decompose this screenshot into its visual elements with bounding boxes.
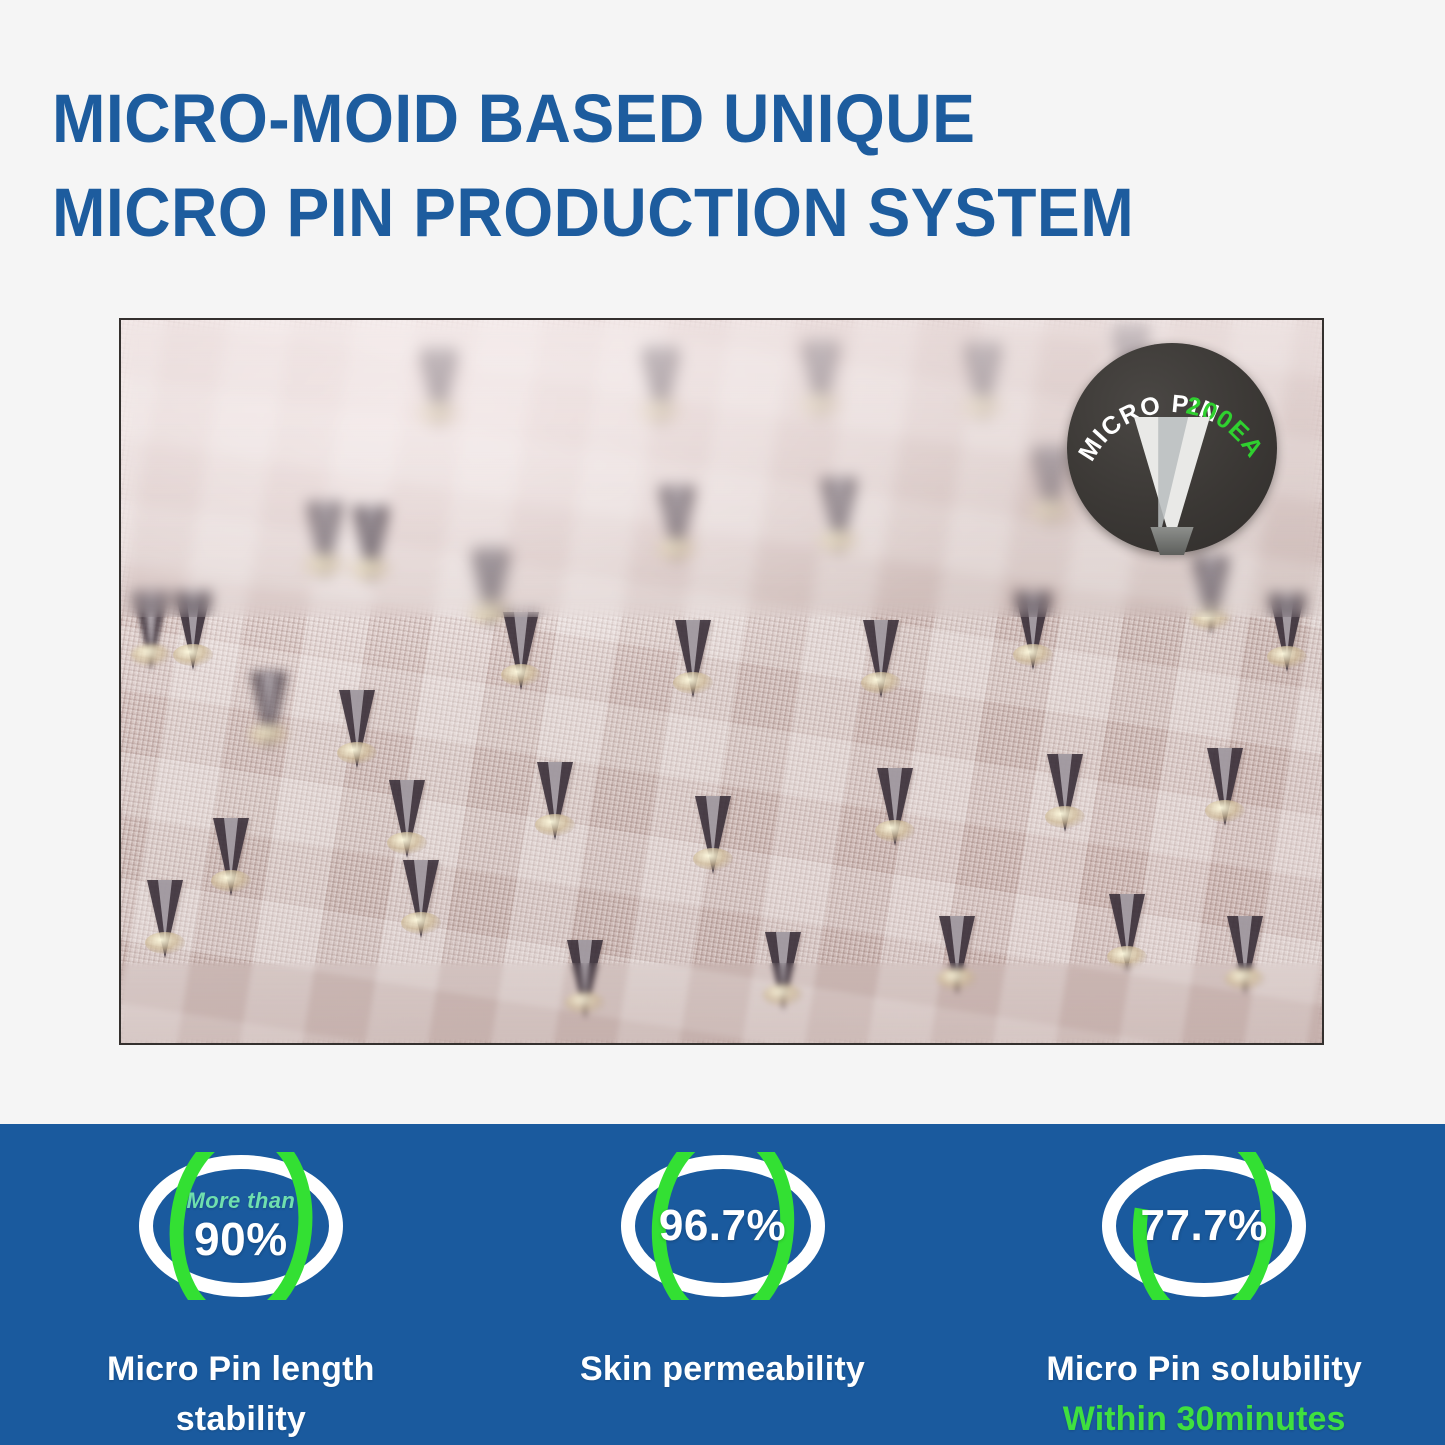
progress-ring: 96.7% <box>614 1152 832 1300</box>
ring-text: 77.7% <box>1095 1152 1313 1300</box>
stat-caption-text: Micro Pin length stability <box>107 1350 375 1438</box>
ring-value: 96.7% <box>659 1204 786 1248</box>
stat-caption: Skin permeability <box>580 1344 865 1394</box>
ring-text: 96.7% <box>614 1152 832 1300</box>
stat-caption-text: Skin permeability <box>580 1350 865 1388</box>
stat-micro-pin-solubility: 77.7% Micro Pin solubility Within 30minu… <box>963 1152 1445 1445</box>
stat-caption: Micro Pin solubility Within 30minutes <box>1046 1344 1362 1444</box>
progress-ring: 77.7% <box>1095 1152 1313 1300</box>
stat-caption: Micro Pin length stability <box>76 1344 406 1444</box>
stat-micro-pin-length-stability: More than 90% Micro Pin length stability <box>0 1152 482 1445</box>
ring-text: More than 90% <box>132 1152 350 1300</box>
stat-caption-text: Micro Pin solubility <box>1046 1350 1362 1388</box>
defocus-bottom <box>121 963 1322 1043</box>
headline-line-1: MICRO-MOID BASED UNIQUE <box>52 72 1298 166</box>
progress-ring: More than 90% <box>132 1152 350 1300</box>
headline-line-2: MICRO PIN PRODUCTION SYSTEM <box>52 166 1298 260</box>
stat-caption-note: Within 30minutes <box>1046 1394 1362 1444</box>
micro-pin-200ea-badge: MICRO PIN 200EA <box>1067 343 1277 553</box>
ring-value: 90% <box>194 1216 288 1262</box>
page-title: MICRO-MOID BASED UNIQUE MICRO PIN PRODUC… <box>52 72 1392 260</box>
ring-value: 77.7% <box>1141 1204 1268 1248</box>
badge-pin-shade-icon <box>1158 417 1188 543</box>
stat-skin-permeability: 96.7% Skin permeability <box>482 1152 964 1445</box>
stats-row: More than 90% Micro Pin length stability… <box>0 1124 1445 1445</box>
stats-band: More than 90% Micro Pin length stability… <box>0 1124 1445 1445</box>
ring-sub-label: More than <box>186 1190 295 1212</box>
